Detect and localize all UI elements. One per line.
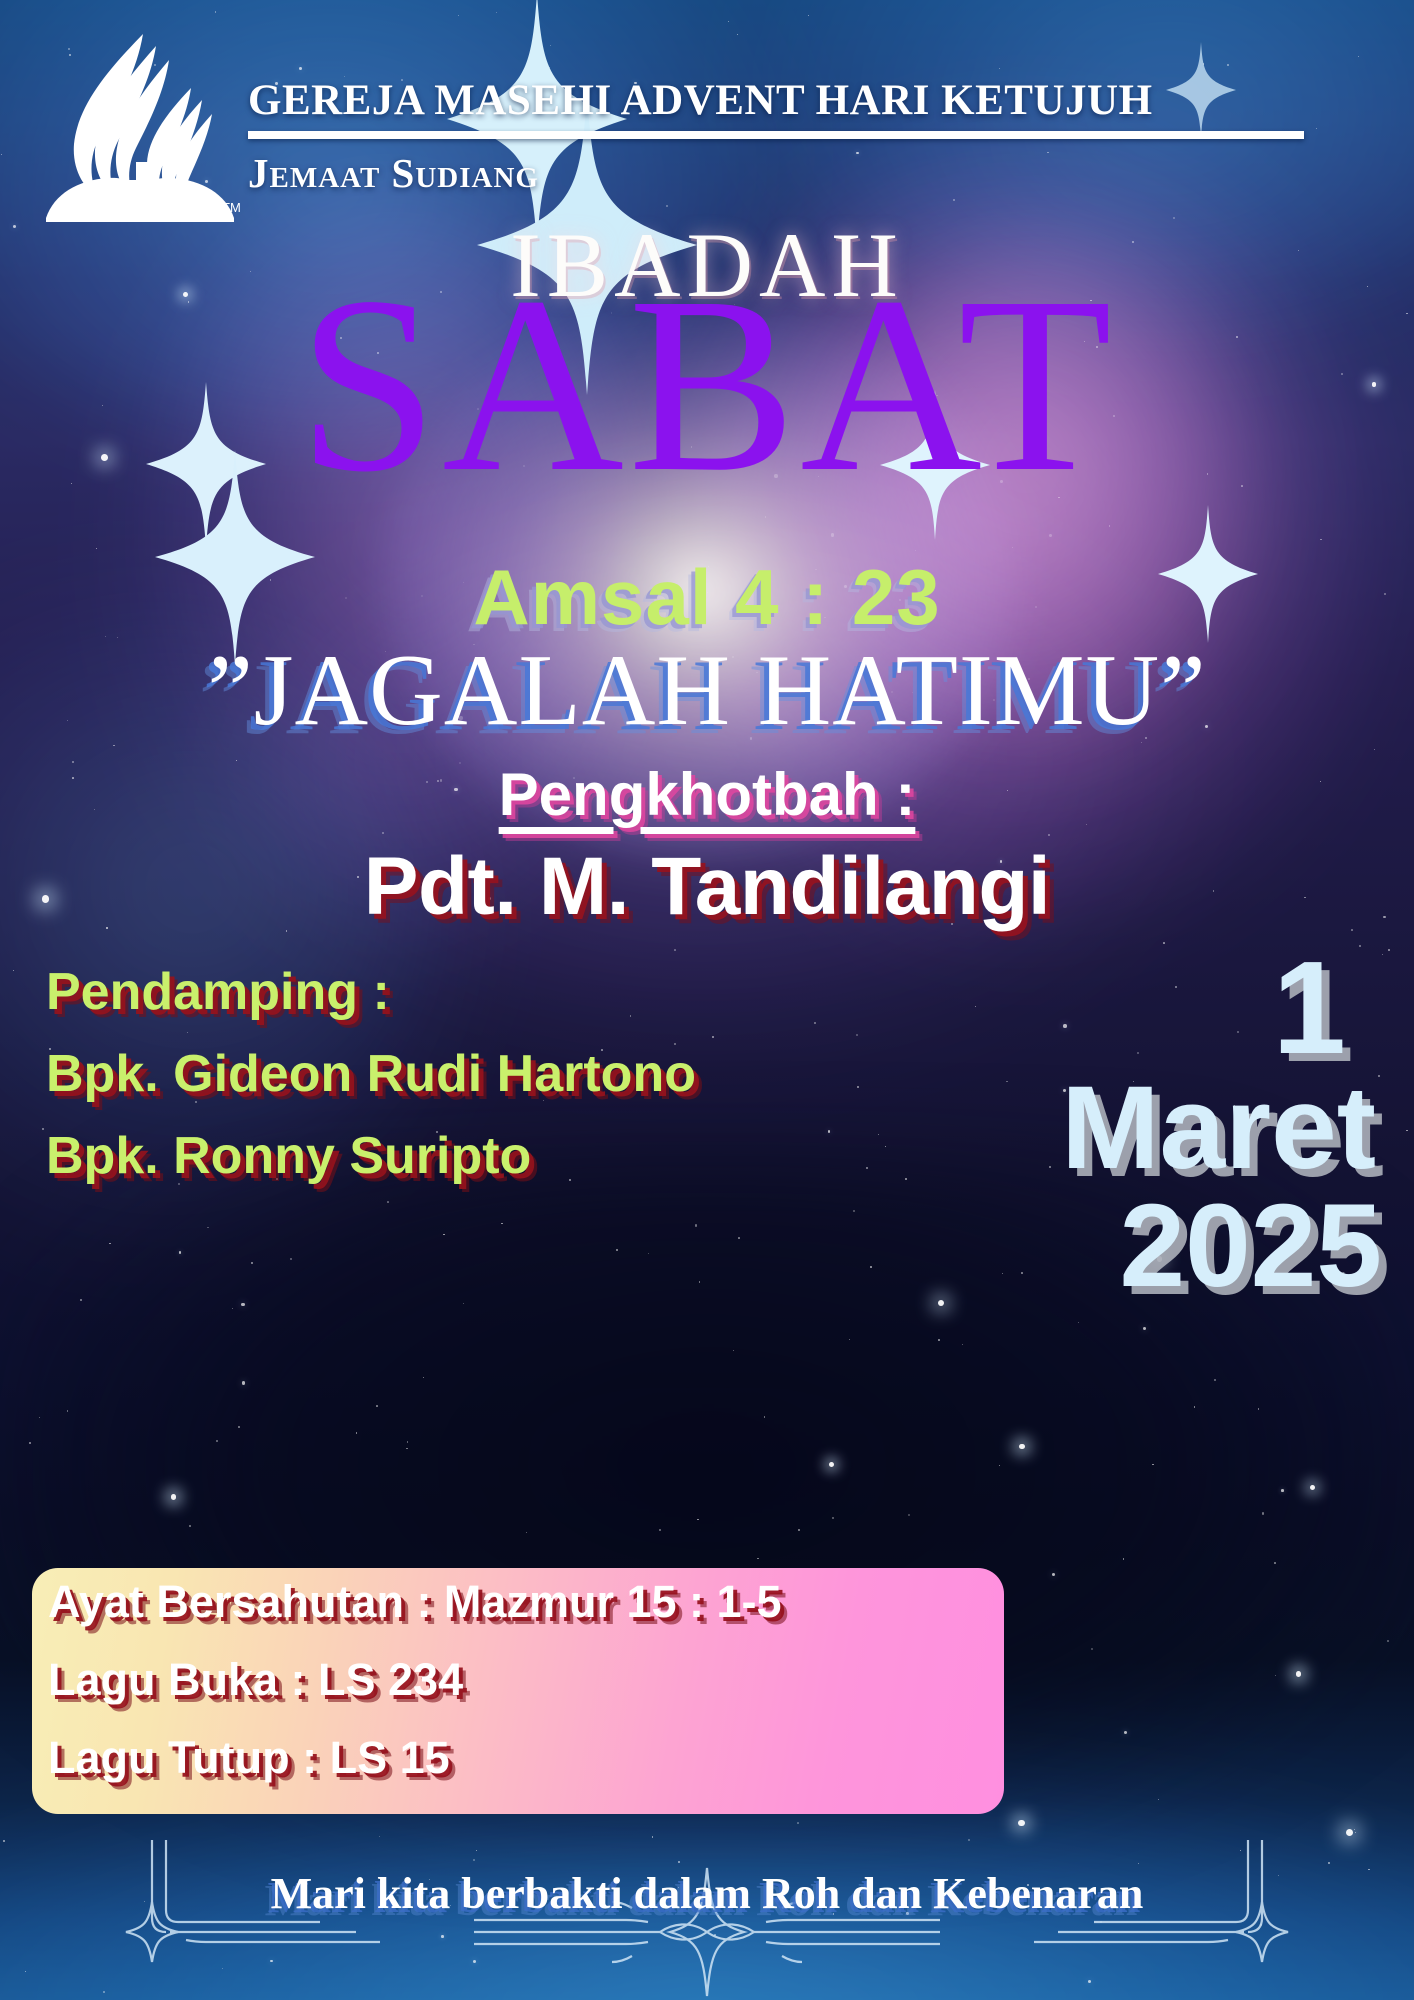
assistants-label: Pendamping : <box>46 962 866 1022</box>
header-text-group: GEREJA MASEHI ADVENT HARI KETUJUH Jemaat… <box>248 76 1304 197</box>
assistant-name-2: Bpk. Ronny Suripto <box>46 1126 866 1186</box>
info-line-opening-hymn: Lagu Buka : LS 234 <box>48 1654 1028 1706</box>
header-divider <box>248 131 1304 139</box>
verse-quote: ”JAGALAH HATIMU” <box>0 632 1414 749</box>
date-day: 1 <box>942 950 1382 1066</box>
congregation-name: Jemaat Sudiang <box>248 149 1304 197</box>
preacher-name: Pdt. M. Tandilangi <box>0 840 1414 934</box>
date-month: Maret <box>942 1072 1382 1185</box>
church-name: GEREJA MASEHI ADVENT HARI KETUJUH <box>248 76 1304 125</box>
assistant-name-1: Bpk. Gideon Rudi Hartono <box>46 1044 866 1104</box>
service-info-box-top-gap <box>29 1562 489 1576</box>
verse-reference: Amsal 4 : 23 <box>0 552 1414 643</box>
service-info-list: Ayat Bersahutan : Mazmur 15 : 1-5 Lagu B… <box>48 1576 1028 1810</box>
sabbath-service-poster: TM GEREJA MASEHI ADVENT HARI KETUJUH Jem… <box>0 0 1414 2000</box>
info-line-closing-hymn: Lagu Tutup : LS 15 <box>48 1732 1028 1784</box>
title-sabat: SABAT SABAT SABAT <box>298 258 1116 510</box>
date-year: 2025 <box>942 1189 1382 1305</box>
title-sabat-wrap: SABAT SABAT SABAT <box>0 258 1414 518</box>
preacher-label: Pengkhotbah : <box>0 760 1414 829</box>
info-line-responsive-reading: Ayat Bersahutan : Mazmur 15 : 1-5 <box>48 1576 1028 1628</box>
poster-header: TM GEREJA MASEHI ADVENT HARI KETUJUH Jem… <box>0 14 1414 214</box>
sda-flame-bible-logo: TM <box>40 32 240 222</box>
footer-invitation: Mari kita berbakti dalam Roh dan Kebenar… <box>0 1868 1414 1919</box>
service-date: 1 Maret 2025 <box>942 950 1382 1305</box>
title-sabat-main: SABAT <box>298 244 1116 524</box>
assistants-block: Pendamping : Bpk. Gideon Rudi Hartono Bp… <box>46 962 866 1208</box>
